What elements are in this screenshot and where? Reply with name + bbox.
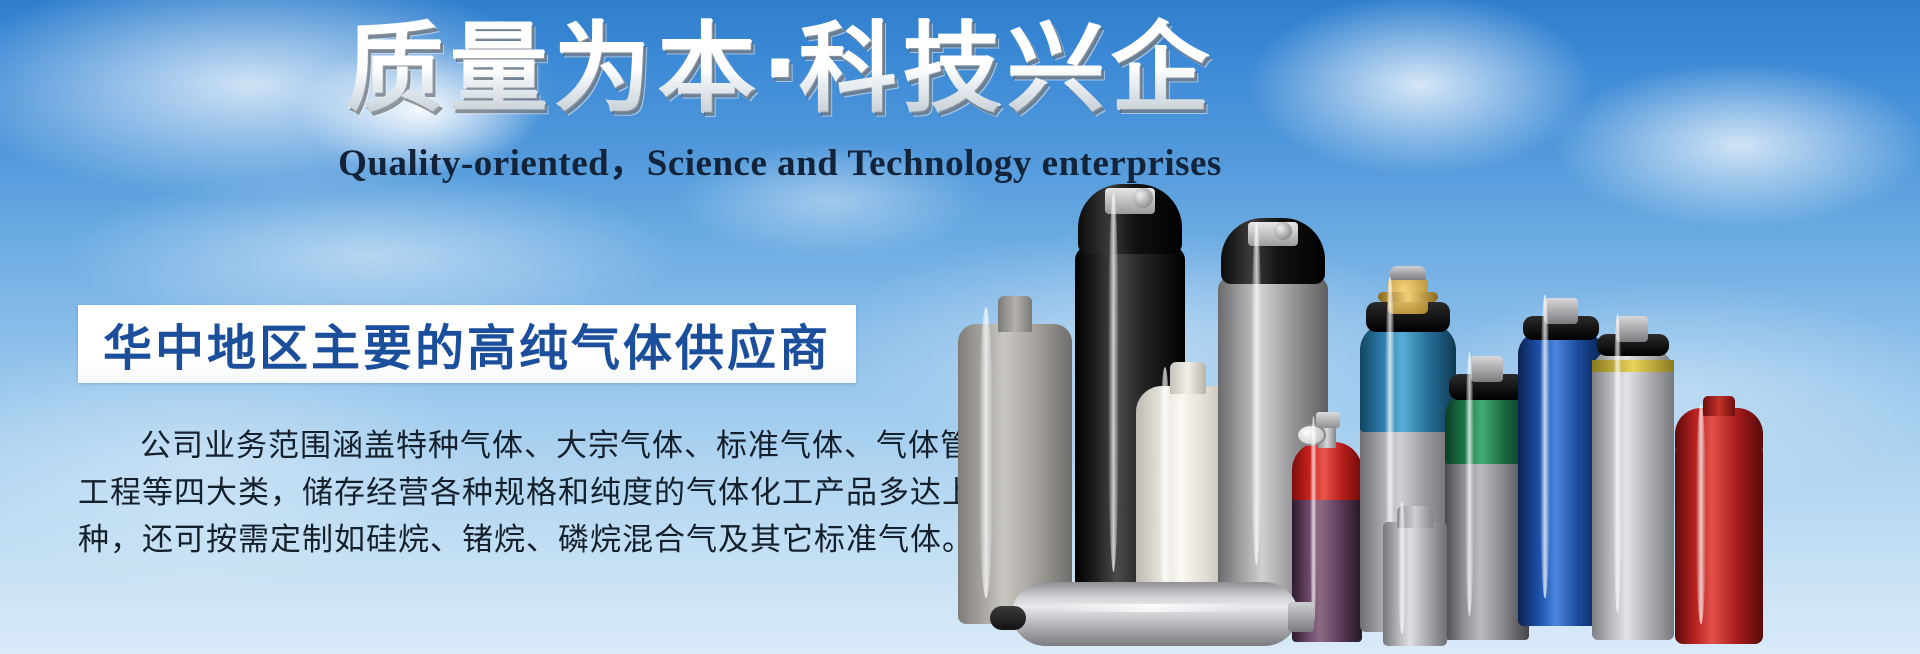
paragraph-line: 公司业务范围涵盖特种气体、大宗气体、标准气体、气体管道 <box>78 423 868 470</box>
paragraph-line-text: 工程等四大类，储存经营各种规格和纯度的气体化工产品多达上百 <box>78 475 1006 511</box>
green-cylinder <box>1445 340 1529 640</box>
paragraph-line-text: 种，还可按需定制如硅烷、锗烷、磷烷混合气及其它标准气体。 <box>78 522 974 558</box>
silver-cylinder <box>1592 300 1674 640</box>
gas-cylinder-group-image <box>940 0 1920 654</box>
highlight-box: 华中地区主要的高纯气体供应商 <box>78 305 856 383</box>
paragraph-line: 工程等四大类，储存经营各种规格和纯度的气体化工产品多达上百 <box>78 470 868 517</box>
hero-banner: 质量为本·科技兴企 Quality-oriented，Science and T… <box>0 0 1920 654</box>
silver-short-cylinder <box>1383 496 1447 646</box>
paragraph-line: 种，还可按需定制如硅烷、锗烷、磷烷混合气及其它标准气体。 <box>78 517 868 564</box>
description-paragraph: 公司业务范围涵盖特种气体、大宗气体、标准气体、气体管道 工程等四大类，储存经营各… <box>78 423 868 564</box>
red-tall-cylinder <box>1675 394 1763 644</box>
title-cn-part1: 质量为本 <box>345 12 761 126</box>
paragraph-line-text: 公司业务范围涵盖特种气体、大宗气体、标准气体、气体管道 <box>140 428 1004 464</box>
lying-silver-cylinder <box>990 574 1320 652</box>
highlight-box-text: 华中地区主要的高纯气体供应商 <box>78 305 856 383</box>
title-cn-separator: · <box>761 12 798 126</box>
